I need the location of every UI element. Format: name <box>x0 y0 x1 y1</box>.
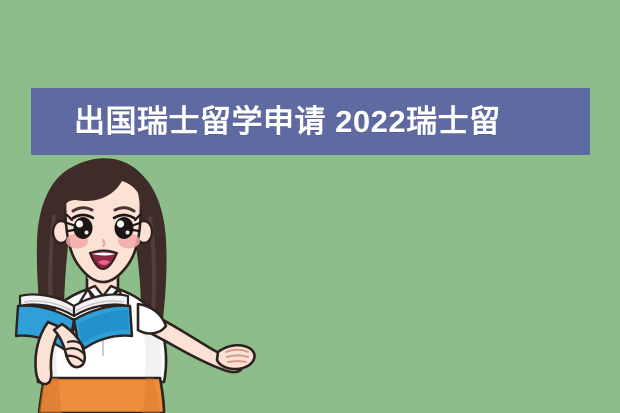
page-title: 出国瑞士留学申请 2022瑞士留 <box>31 88 501 155</box>
female-student-illustration <box>14 156 264 413</box>
thumbnail-canvas: 出国瑞士留学申请 2022瑞士留 <box>0 0 620 413</box>
title-banner: 出国瑞士留学申请 2022瑞士留 <box>31 88 590 155</box>
skirt <box>39 378 164 413</box>
